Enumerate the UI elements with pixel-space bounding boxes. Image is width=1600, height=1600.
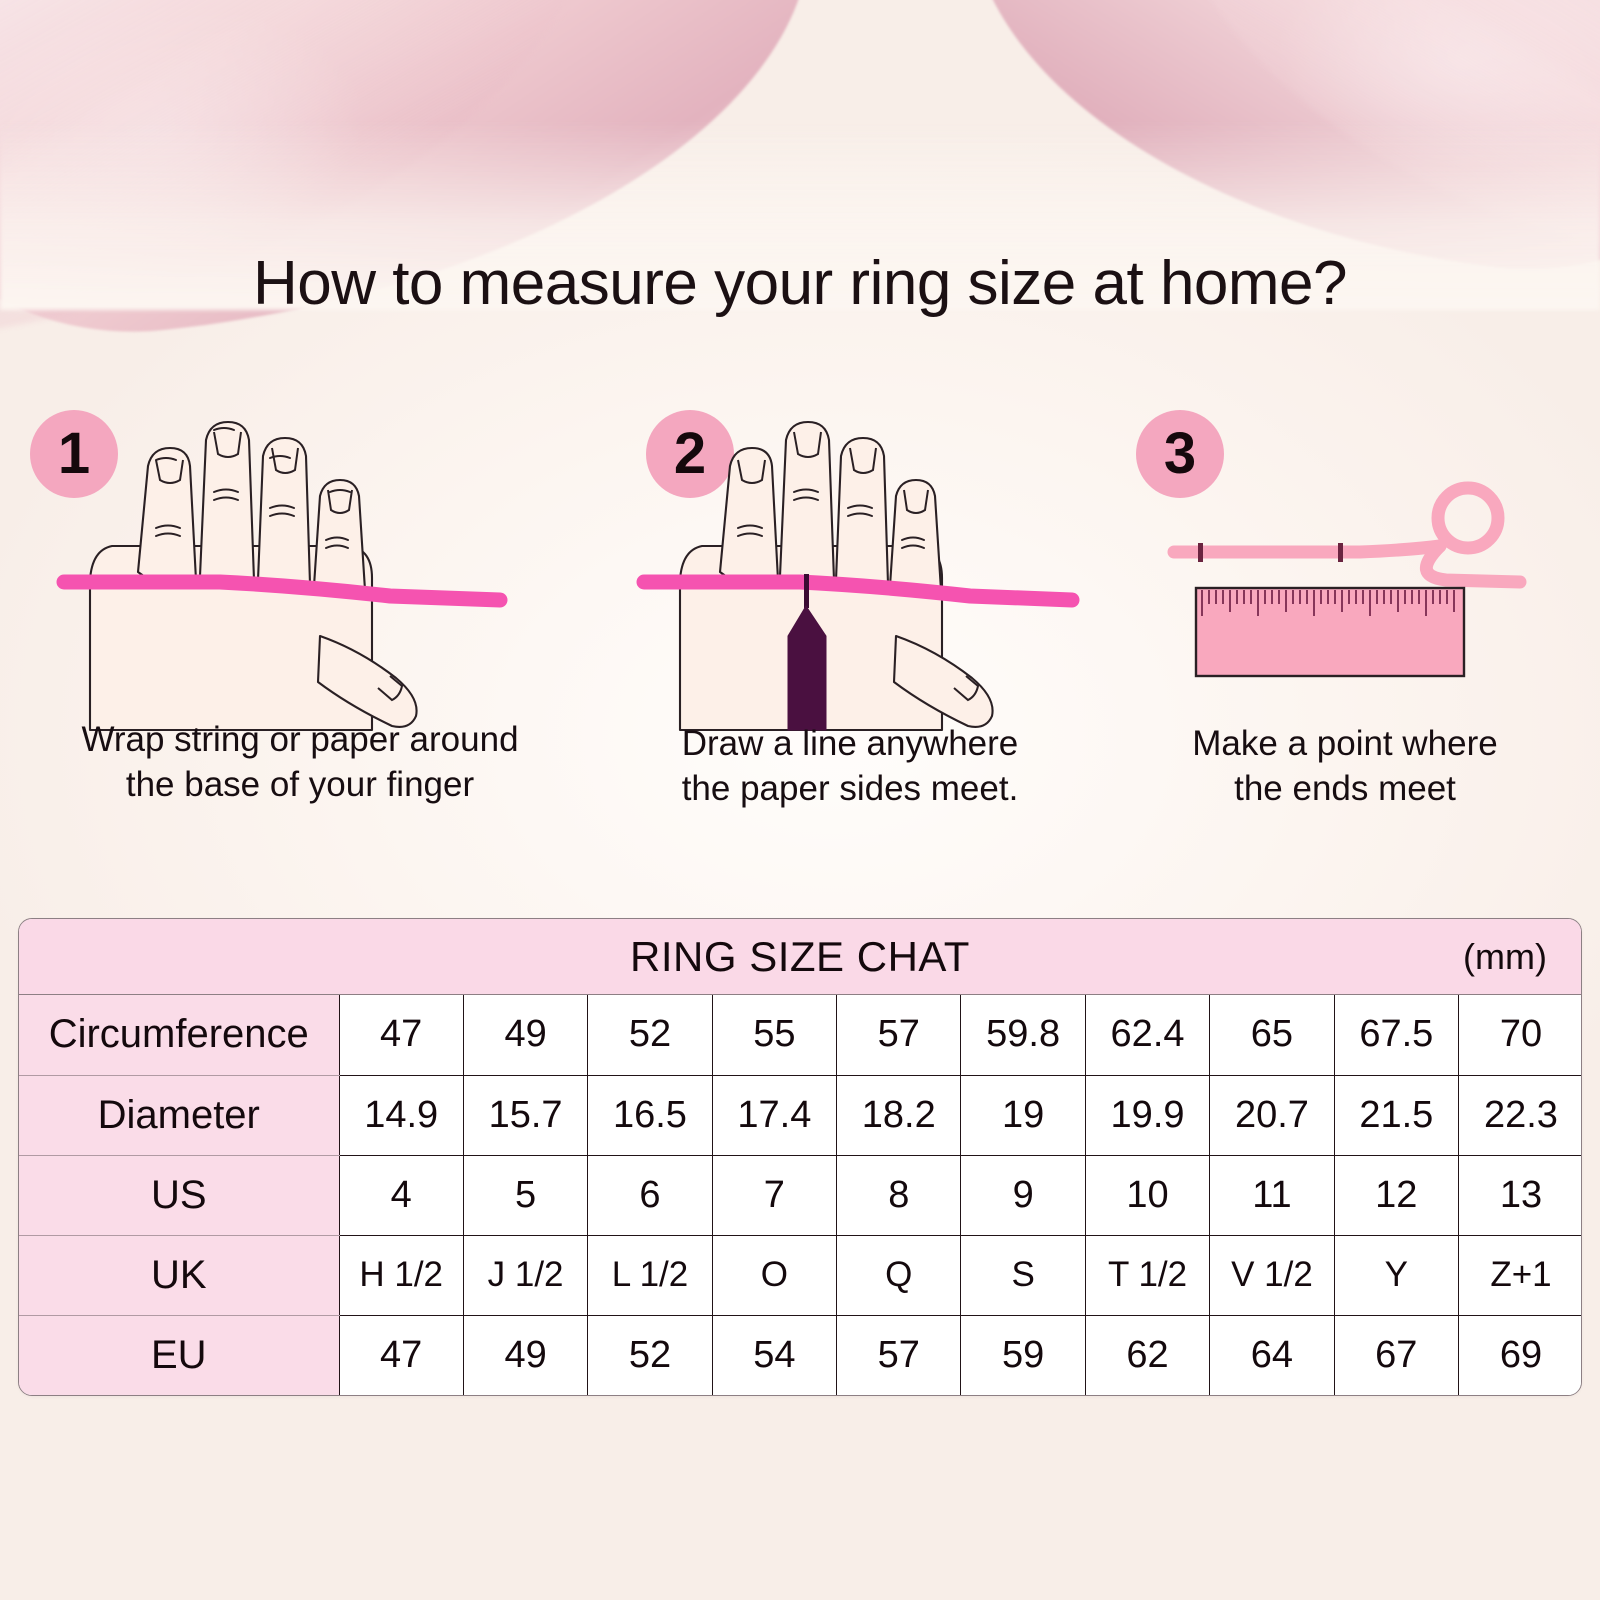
cell-diameter-2: 15.7 [463,1075,587,1155]
cell-us-2: 5 [463,1155,587,1235]
cell-eu-1: 47 [339,1315,463,1395]
step-caption-2-line1: Draw a line anywhere [620,722,1080,767]
table-row: US 4 5 6 7 8 9 10 11 12 13 [19,1155,1582,1235]
cell-us-5: 8 [837,1155,961,1235]
step-caption-2-line2: the paper sides meet. [620,767,1080,812]
cell-circumference-4: 55 [712,995,836,1075]
chart-title: RING SIZE CHAT [630,933,970,981]
cell-circumference-8: 65 [1210,995,1334,1075]
steps-row: 1 [0,400,1600,830]
row-label-us: US [19,1155,339,1235]
step-caption-3-line1: Make a point where [1110,722,1580,767]
cell-eu-8: 64 [1210,1315,1334,1395]
cell-circumference-10: 70 [1459,995,1582,1075]
hand-with-pencil-icon [620,400,1080,730]
row-label-uk: UK [19,1235,339,1315]
cell-circumference-6: 59.8 [961,995,1085,1075]
ring-size-table: Circumference 47 49 52 55 57 59.8 62.4 6… [19,995,1582,1395]
cell-uk-5: Q [837,1235,961,1315]
ring-size-chart: RING SIZE CHAT (mm) Circumference 47 49 … [18,918,1582,1396]
cell-diameter-10: 22.3 [1459,1075,1582,1155]
page-title: How to measure your ring size at home? [0,248,1600,319]
cell-circumference-1: 47 [339,995,463,1075]
cell-uk-9: Y [1334,1235,1458,1315]
cell-us-1: 4 [339,1155,463,1235]
row-label-circumference: Circumference [19,995,339,1075]
cell-eu-4: 54 [712,1315,836,1395]
step-1: 1 [20,400,580,830]
step-caption-1-line2: the base of your finger [20,763,580,808]
cell-eu-3: 52 [588,1315,712,1395]
cell-eu-7: 62 [1085,1315,1209,1395]
cell-circumference-3: 52 [588,995,712,1075]
step-caption-1-line1: Wrap string or paper around [20,718,580,763]
ruler-and-string-icon [1110,400,1580,730]
cell-eu-6: 59 [961,1315,1085,1395]
step-3: 3 [1110,400,1580,830]
step-caption-3: Make a point where the ends meet [1110,722,1580,812]
cell-diameter-9: 21.5 [1334,1075,1458,1155]
cell-circumference-5: 57 [837,995,961,1075]
cell-us-6: 9 [961,1155,1085,1235]
table-row: Circumference 47 49 52 55 57 59.8 62.4 6… [19,995,1582,1075]
chart-unit-label: (mm) [1463,936,1547,978]
cell-diameter-1: 14.9 [339,1075,463,1155]
cell-uk-6: S [961,1235,1085,1315]
table-row: Diameter 14.9 15.7 16.5 17.4 18.2 19 19.… [19,1075,1582,1155]
step-2: 2 [620,400,1080,830]
cell-circumference-9: 67.5 [1334,995,1458,1075]
cell-us-4: 7 [712,1155,836,1235]
cell-diameter-8: 20.7 [1210,1075,1334,1155]
cell-uk-8: V 1/2 [1210,1235,1334,1315]
cell-diameter-7: 19.9 [1085,1075,1209,1155]
step-caption-2: Draw a line anywhere the paper sides mee… [620,722,1080,812]
chart-header: RING SIZE CHAT (mm) [19,919,1581,995]
cell-uk-1: H 1/2 [339,1235,463,1315]
step-caption-3-line2: the ends meet [1110,767,1580,812]
cell-uk-4: O [712,1235,836,1315]
cell-eu-5: 57 [837,1315,961,1395]
cell-circumference-2: 49 [463,995,587,1075]
cell-us-8: 11 [1210,1155,1334,1235]
cell-uk-2: J 1/2 [463,1235,587,1315]
row-label-diameter: Diameter [19,1075,339,1155]
cell-us-10: 13 [1459,1155,1582,1235]
cell-us-3: 6 [588,1155,712,1235]
cell-uk-3: L 1/2 [588,1235,712,1315]
cell-eu-10: 69 [1459,1315,1582,1395]
cell-eu-9: 67 [1334,1315,1458,1395]
cell-diameter-3: 16.5 [588,1075,712,1155]
table-row: EU 47 49 52 54 57 59 62 64 67 69 [19,1315,1582,1395]
row-label-eu: EU [19,1315,339,1395]
cell-diameter-5: 18.2 [837,1075,961,1155]
hand-with-string-icon [20,400,580,730]
cell-uk-10: Z+1 [1459,1235,1582,1315]
cell-us-9: 12 [1334,1155,1458,1235]
cell-diameter-6: 19 [961,1075,1085,1155]
cell-uk-7: T 1/2 [1085,1235,1209,1315]
cell-circumference-7: 62.4 [1085,995,1209,1075]
cell-eu-2: 49 [463,1315,587,1395]
step-caption-1: Wrap string or paper around the base of … [20,718,580,808]
cell-diameter-4: 17.4 [712,1075,836,1155]
table-row: UK H 1/2 J 1/2 L 1/2 O Q S T 1/2 V 1/2 Y… [19,1235,1582,1315]
cell-us-7: 10 [1085,1155,1209,1235]
